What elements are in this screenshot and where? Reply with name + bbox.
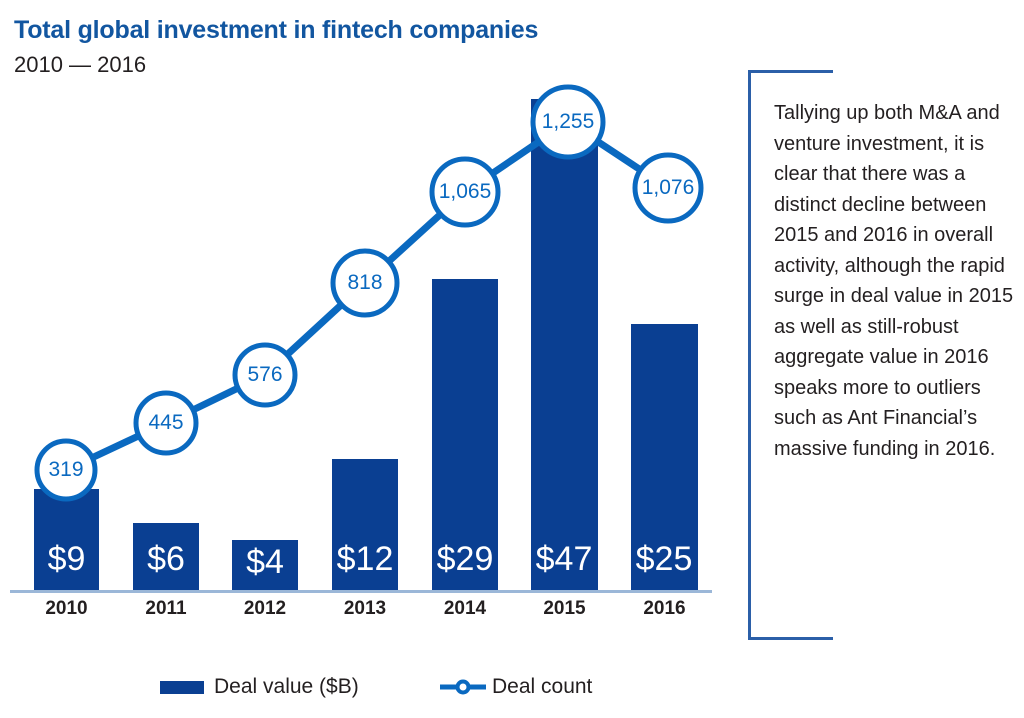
bar-series	[34, 99, 698, 591]
bar-2015[interactable]	[531, 99, 598, 591]
bar-2010[interactable]	[34, 489, 99, 591]
marker-2010[interactable]	[37, 441, 95, 499]
x-tick-2013: 2013	[332, 598, 398, 620]
x-tick-2014: 2014	[432, 598, 498, 620]
marker-2011[interactable]	[136, 393, 196, 453]
marker-2013[interactable]	[333, 251, 397, 315]
marker-2015[interactable]	[533, 87, 603, 157]
legend-line-marker-icon	[440, 679, 486, 695]
legend-label-deal-count: Deal count	[492, 675, 592, 699]
x-tick-2012: 2012	[232, 598, 298, 620]
bar-2012[interactable]	[232, 540, 298, 591]
x-tick-2010: 2010	[34, 598, 99, 620]
bar-2016[interactable]	[631, 324, 698, 591]
bar-2013[interactable]	[332, 459, 398, 591]
legend-label-deal-value: Deal value ($B)	[214, 675, 359, 699]
legend-item-deal-count[interactable]: Deal count	[440, 672, 592, 702]
bar-2011[interactable]	[133, 523, 199, 591]
chart-svg	[0, 0, 740, 640]
bar-2014[interactable]	[432, 279, 498, 591]
annotation-callout: Tallying up both M&A and venture investm…	[748, 70, 1016, 640]
chart-legend: Deal value ($B) Deal count	[0, 672, 740, 712]
legend-bar-swatch-icon	[160, 681, 204, 694]
annotation-text: Tallying up both M&A and venture investm…	[774, 98, 1016, 464]
x-tick-2015: 2015	[531, 598, 598, 620]
marker-2016[interactable]	[635, 155, 701, 221]
chart-plot-area: $9 $6 $4 $12 $29 $47 $25 319 445 576 818…	[0, 0, 740, 640]
x-tick-2016: 2016	[631, 598, 698, 620]
marker-2012[interactable]	[235, 345, 295, 405]
x-tick-2011: 2011	[133, 598, 199, 620]
legend-item-deal-value[interactable]: Deal value ($B)	[160, 672, 359, 702]
marker-2014[interactable]	[432, 159, 498, 225]
